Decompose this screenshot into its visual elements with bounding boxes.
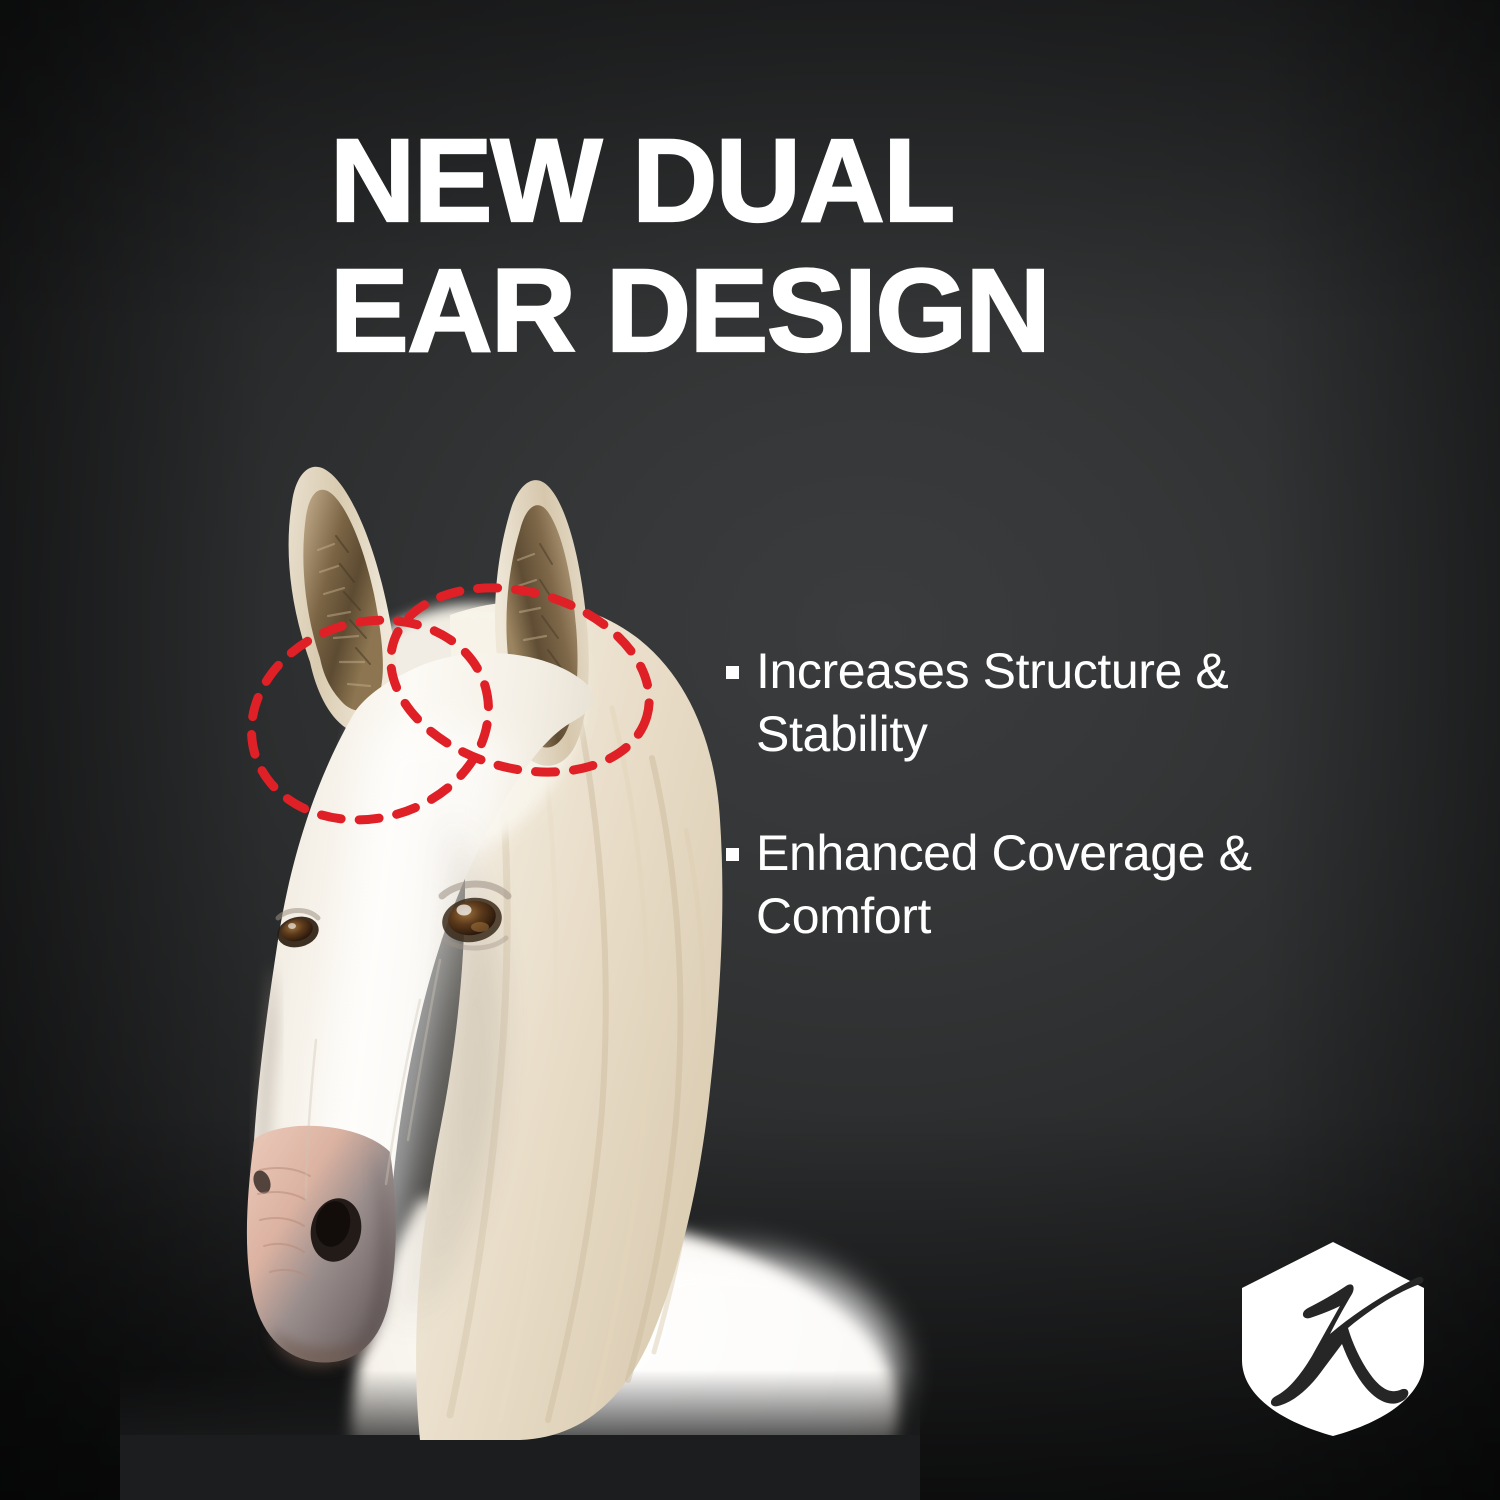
page-title: NEW DUAL EAR DESIGN bbox=[330, 123, 1390, 370]
horse-muzzle bbox=[247, 1126, 396, 1367]
shield-icon bbox=[1238, 1240, 1428, 1438]
headline-line-1: NEW DUAL bbox=[330, 123, 1390, 240]
list-item: Enhanced Coverage & Comfort bbox=[726, 822, 1426, 948]
brand-logo bbox=[1238, 1240, 1428, 1438]
square-bullet-icon bbox=[726, 848, 739, 861]
feature-label: Increases Structure & Stability bbox=[756, 640, 1396, 766]
square-bullet-icon bbox=[726, 666, 739, 679]
list-item: Increases Structure & Stability bbox=[726, 640, 1426, 766]
feature-list: Increases Structure & Stability Enhanced… bbox=[726, 640, 1426, 948]
product-feature-image: NEW DUAL EAR DESIGN Increases Structure … bbox=[0, 0, 1500, 1500]
headline-line-2: EAR DESIGN bbox=[330, 253, 1390, 370]
feature-label: Enhanced Coverage & Comfort bbox=[756, 822, 1396, 948]
